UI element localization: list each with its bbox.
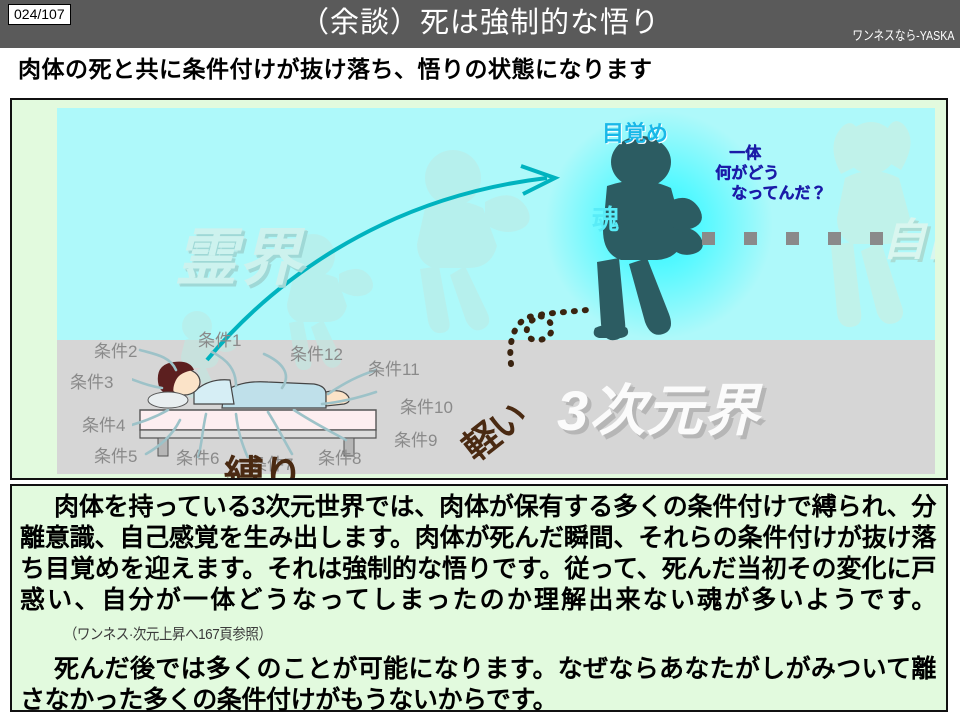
subtitle: 肉体の死と共に条件付けが抜け落ち、悟りの状態になります [18, 55, 653, 83]
watermark-freedom: 自由 [882, 218, 935, 264]
watermark-third-dimension: 3次元界 [557, 382, 760, 440]
condition-label-3: 条件3 [70, 373, 113, 392]
body-text-panel: 肉体を持っている3次元世界では、肉体が保有する多くの条件付けで縛られ、分離意識、… [10, 484, 948, 712]
slide-root: 024/107 （余談）死は強制的な悟り ワンネスなら-YASKA 肉体の死と共… [0, 0, 960, 720]
awakening-label: 目覚め [602, 122, 668, 146]
condition-label-4: 条件4 [82, 416, 125, 435]
soul-thought-line-2: 何がどう [715, 164, 779, 183]
soul-thought-line-3: なってんだ？ [731, 184, 826, 203]
header-bar: 024/107 （余談）死は強制的な悟り ワンネスなら-YASKA [0, 0, 960, 48]
soul-label: 魂 [592, 206, 619, 234]
dotted-trail [477, 258, 597, 368]
illustration-panel: 目覚め 魂 一体 何がどう なってんだ？ 霊界 自由 3次元界 条件1条件2条件… [10, 98, 948, 480]
condition-label-10: 条件10 [400, 398, 453, 417]
watermark-spirit-world: 霊界 [175, 228, 303, 290]
condition-label-8: 条件8 [318, 449, 361, 468]
condition-label-1: 条件1 [198, 331, 241, 350]
condition-label-9: 条件9 [394, 431, 437, 450]
soul-thought-line-1: 一体 [729, 144, 761, 163]
condition-label-2: 条件2 [94, 342, 137, 361]
thought-dots [702, 232, 882, 246]
binding-word: 縛り [224, 455, 302, 480]
brand-label: ワンネスなら-YASKA [852, 28, 954, 43]
body-paragraph-2: 死んだ後では多くのことが可能になります。なぜならあなたがしがみついて離さなかった… [20, 654, 936, 716]
page-title: （余談）死は強制的な悟り [0, 5, 960, 41]
condition-label-5: 条件5 [94, 447, 137, 466]
condition-label-6: 条件6 [176, 449, 219, 468]
reference-note: （ワンネス·次元上昇へ167頁参照） [33, 619, 271, 650]
condition-label-12: 条件12 [290, 345, 343, 364]
condition-label-11: 条件11 [368, 360, 420, 379]
body-paragraph-1-text: 肉体を持っている3次元世界では、肉体が保有する多くの条件付けで縛られ、分離意識、… [20, 493, 936, 614]
body-paragraph-1: 肉体を持っている3次元世界では、肉体が保有する多くの条件付けで縛られ、分離意識、… [20, 492, 936, 650]
